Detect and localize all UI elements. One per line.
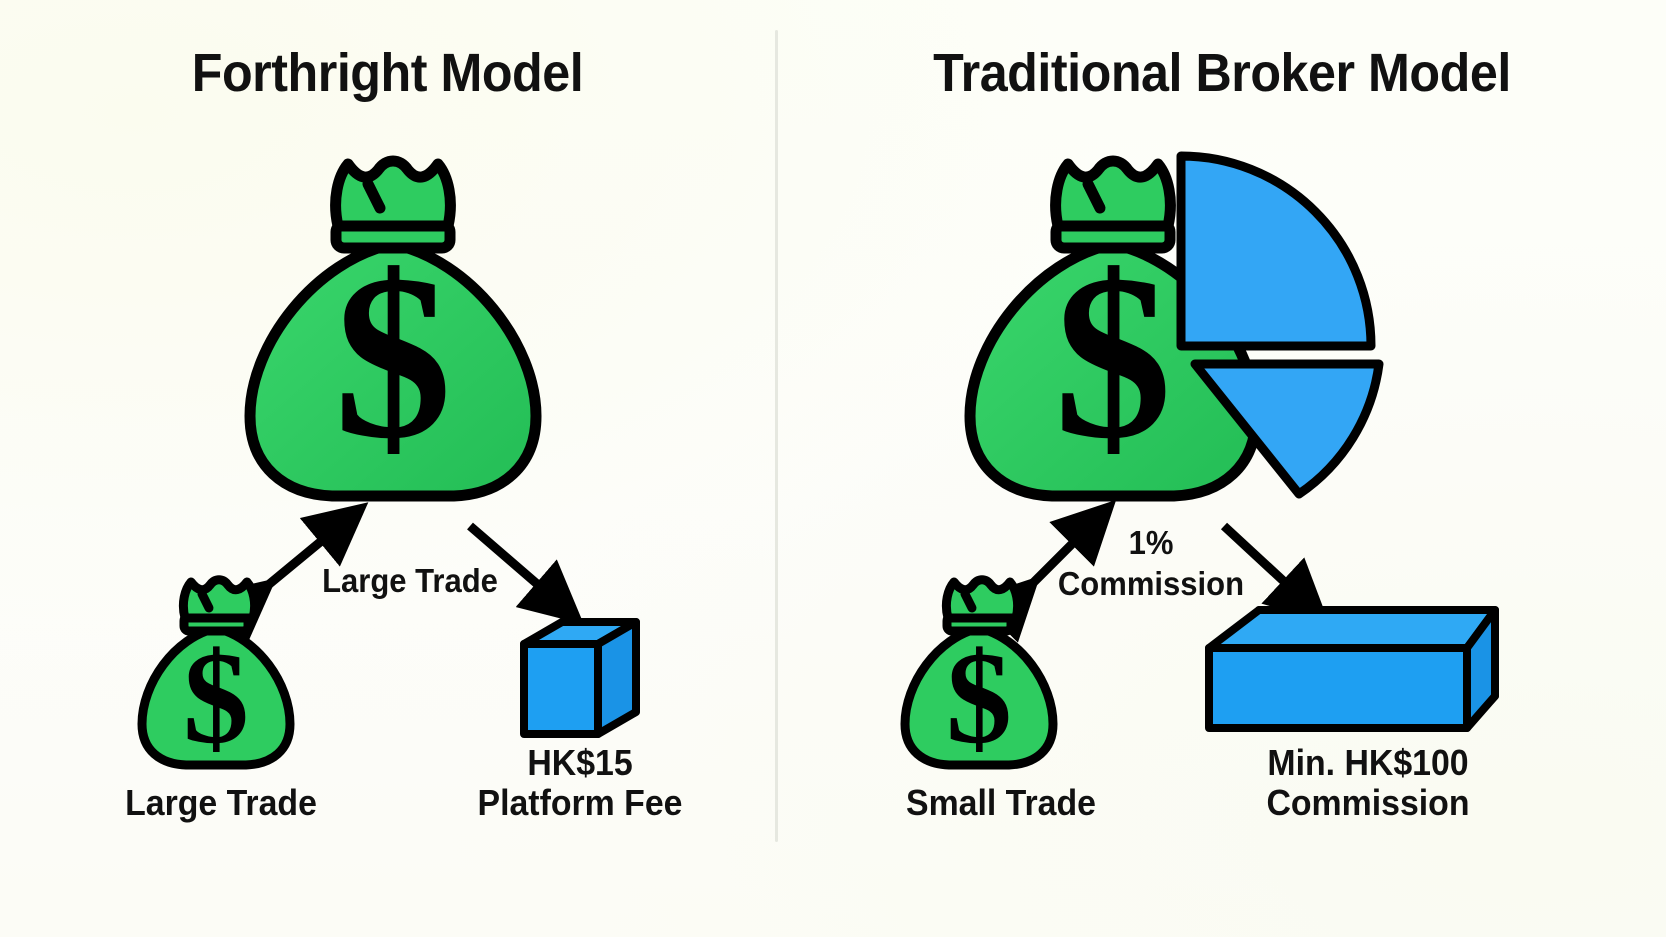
caption-commission-label: Commission [1208,784,1528,823]
small-money-bag-group: $ [130,572,302,772]
large-money-bag-group: $ [228,148,558,510]
panel-forthright: Forthright Model $ [0,0,775,937]
panel-title-traditional: Traditional Broker Model [809,42,1635,104]
dollar-symbol: $ [183,624,249,771]
pie-chart-icon [1173,148,1393,508]
money-bag-icon: $ [893,572,1065,772]
dollar-symbol: $ [334,227,452,488]
caption-left-forthright: Large Trade [66,784,376,823]
panel-title-forthright: Forthright Model [27,42,748,104]
large-box-icon [1203,588,1503,748]
dollar-symbol: $ [946,624,1012,771]
small-cube-icon [518,616,643,741]
caption-left-traditional: Small Trade [846,784,1156,823]
caption-commission-amount: Min. HK$100 [1208,744,1528,783]
arrow-to-fee [462,518,582,618]
caption-fee-amount: HK$15 [439,744,721,783]
dollar-symbol: $ [1054,227,1172,488]
infographic-canvas: Forthright Model $ [0,0,1666,937]
panel-traditional-broker: Traditional Broker Model $ [778,0,1666,937]
small-money-bag-group: $ [893,572,1065,772]
money-bag-icon: $ [228,148,558,510]
caption-fee-label: Platform Fee [439,784,721,823]
money-bag-icon: $ [130,572,302,772]
